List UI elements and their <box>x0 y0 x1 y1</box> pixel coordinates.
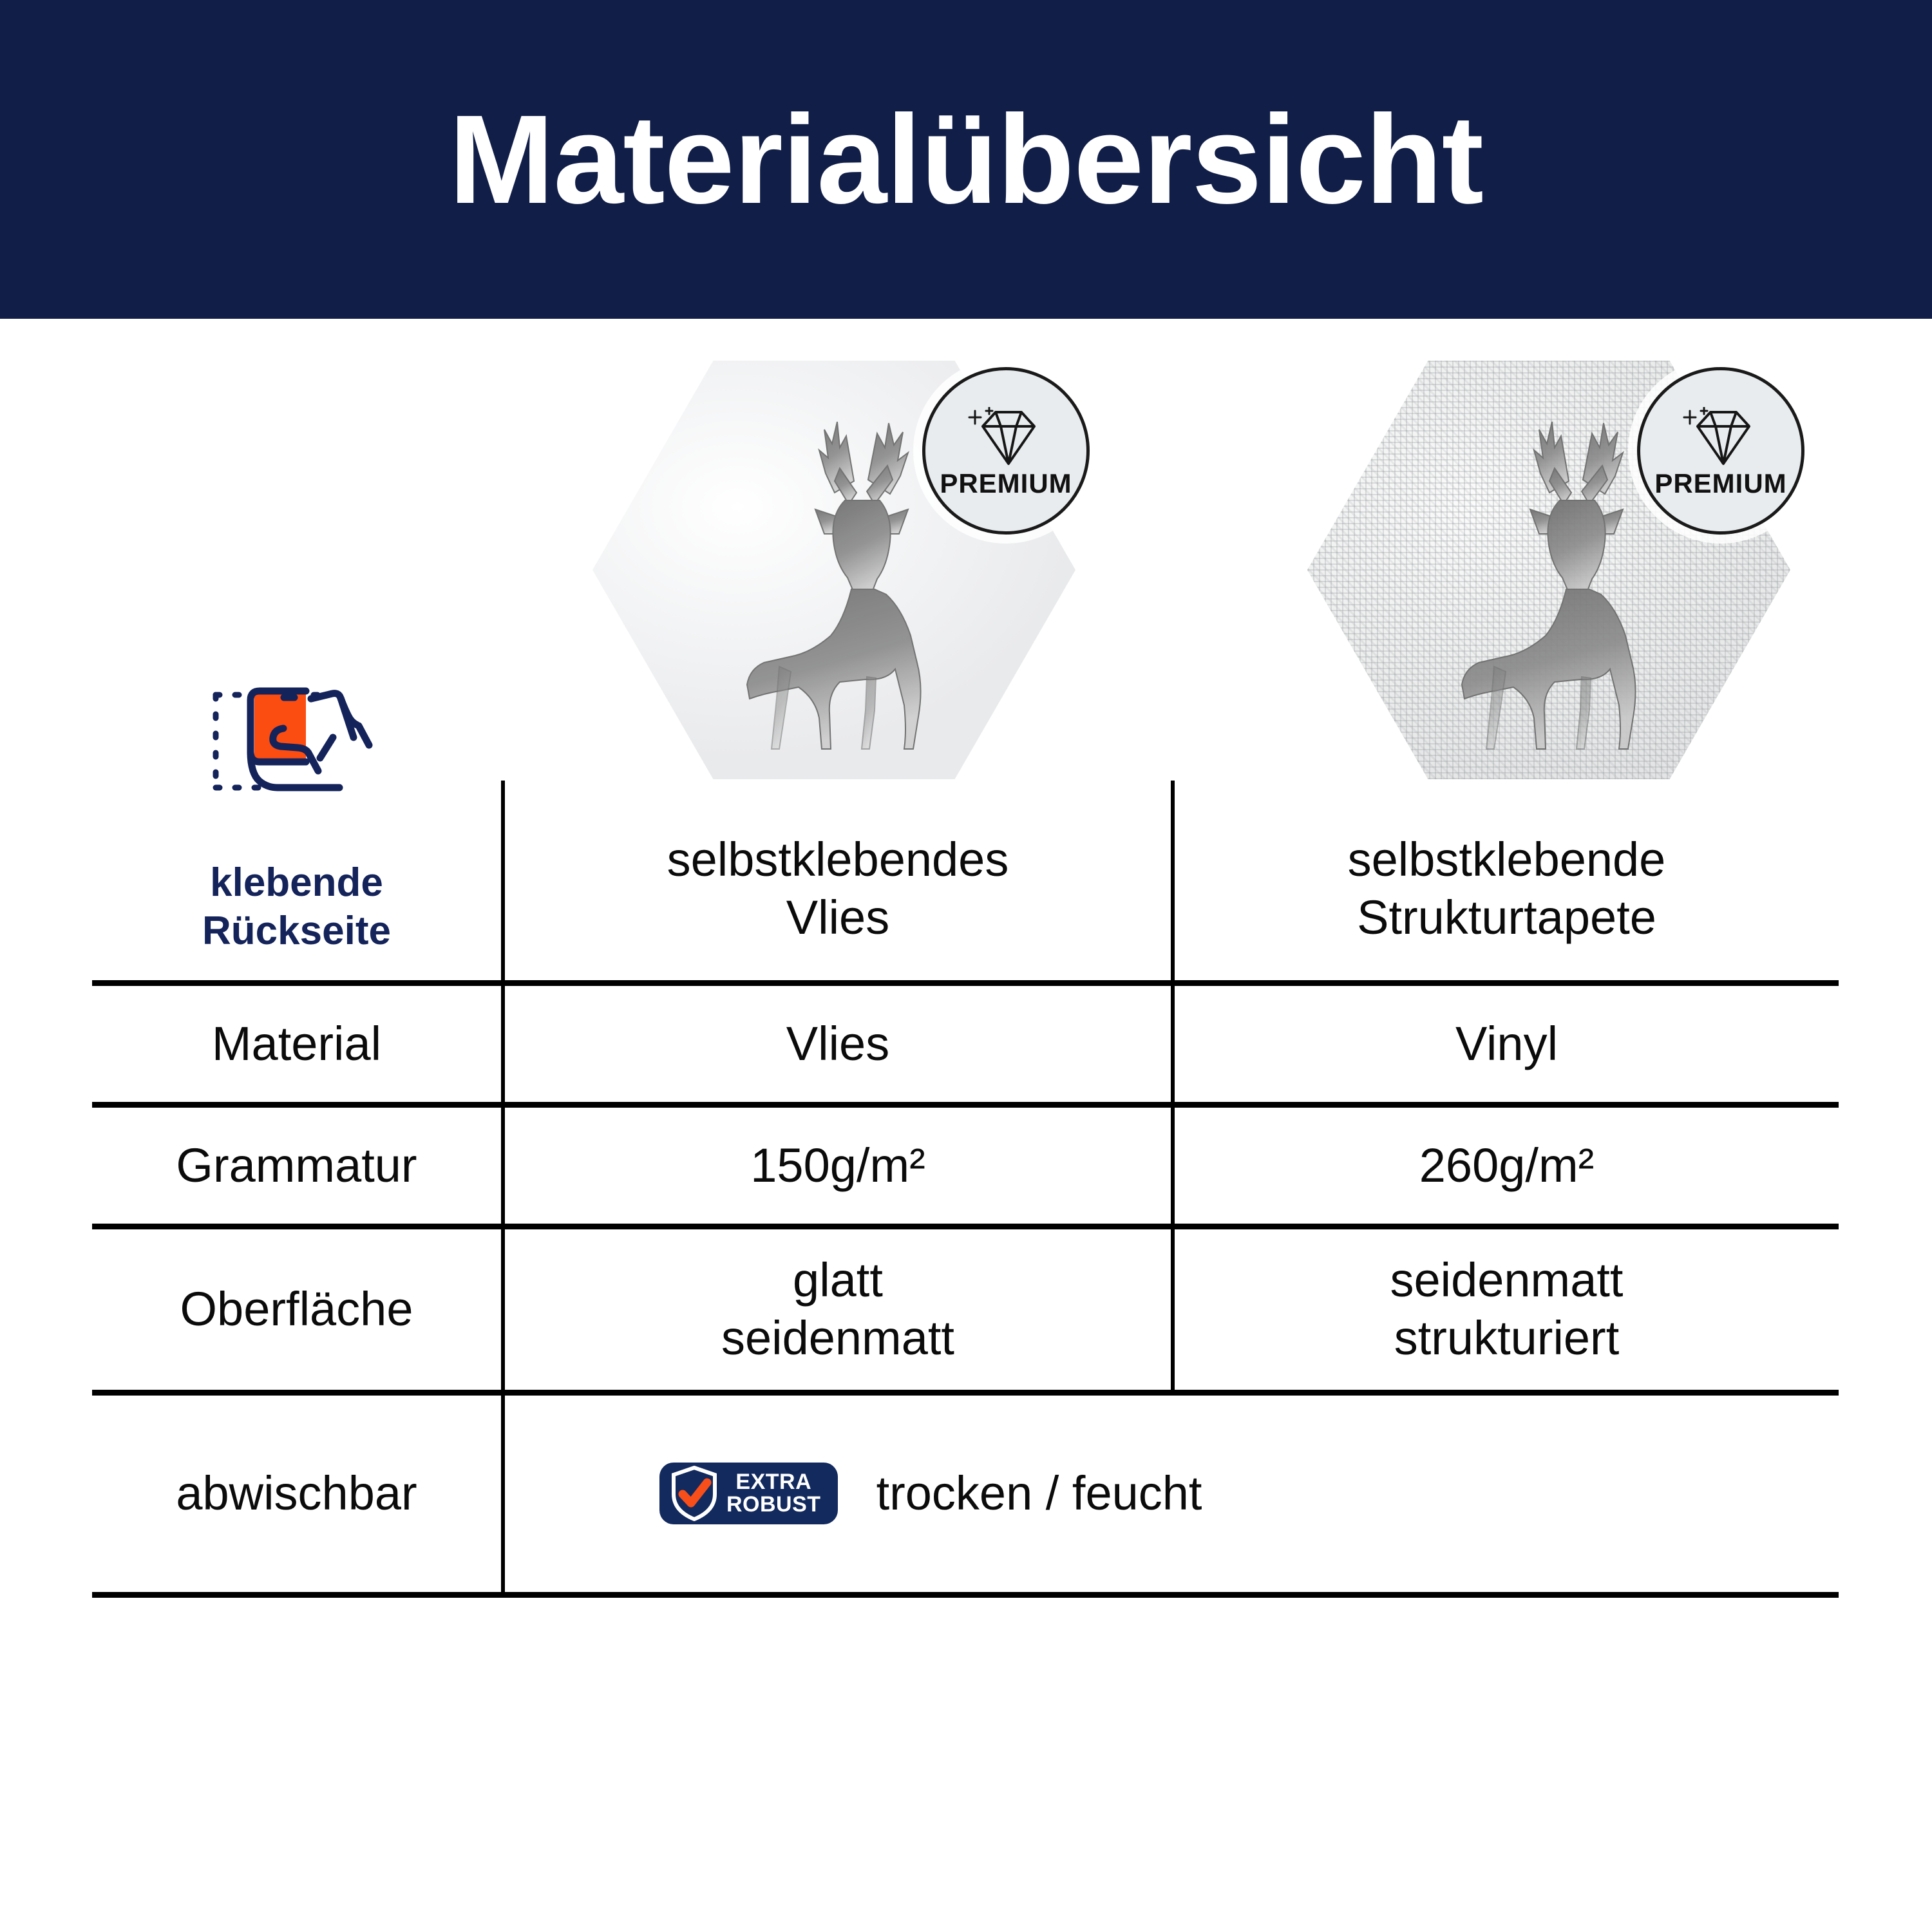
row-label-oberflaeche: Oberfläche <box>92 1229 501 1390</box>
adhesive-back-peel-icon <box>200 674 393 810</box>
table-row: Grammatur 150g/m² 260g/m² <box>92 1102 1839 1224</box>
extra-robust-line1: EXTRA <box>726 1471 821 1493</box>
adhesive-back-label-line1: klebende <box>202 858 391 907</box>
sample-strukturtapete: PREMIUM <box>1307 361 1790 779</box>
cell-oberflaeche-strukturtapete: seidenmatt strukturiert <box>1171 1229 1839 1390</box>
diamond-icon <box>967 407 1045 469</box>
sample-vlies: PREMIUM <box>592 361 1075 779</box>
table-row: Oberfläche glatt seidenmatt seidenmatt s… <box>92 1224 1839 1390</box>
column-header-strukturtapete: selbstklebende Strukturtapete <box>1171 781 1839 980</box>
abwischbar-value-text: trocken / feucht <box>876 1464 1202 1522</box>
row-label-grammatur: Grammatur <box>92 1108 501 1224</box>
cell-abwischbar-value: EXTRA ROBUST trocken / feucht <box>501 1396 1839 1592</box>
table-row: abwischbar EXTRA ROBUST trocken / feucht <box>92 1390 1839 1598</box>
column-header-strukturtapete-line1: selbstklebende <box>1348 831 1666 889</box>
column-header-vlies-line1: selbstklebendes <box>667 831 1009 889</box>
cell-oberflaeche-strukturtapete-line1: seidenmatt <box>1390 1251 1624 1309</box>
page-header: Materialübersicht <box>0 0 1932 319</box>
cell-grammatur-strukturtapete: 260g/m² <box>1171 1108 1839 1224</box>
cell-oberflaeche-strukturtapete-line2: strukturiert <box>1390 1309 1624 1367</box>
premium-badge: PREMIUM <box>922 367 1090 535</box>
material-comparison-table: klebende Rückseite selbstklebendes Vlies… <box>92 781 1839 1598</box>
cell-oberflaeche-vlies-line1: glatt <box>721 1251 954 1309</box>
adhesive-back-cell: klebende Rückseite <box>92 781 501 980</box>
table-row: Material Vlies Vinyl <box>92 980 1839 1102</box>
page-title: Materialübersicht <box>449 97 1483 223</box>
premium-badge-label: PREMIUM <box>1654 470 1786 497</box>
adhesive-back-label: klebende Rückseite <box>202 858 391 956</box>
column-header-strukturtapete-line2: Strukturtapete <box>1348 889 1666 947</box>
cell-oberflaeche-vlies: glatt seidenmatt <box>501 1229 1171 1390</box>
cell-grammatur-vlies: 150g/m² <box>501 1108 1171 1224</box>
cell-material-strukturtapete: Vinyl <box>1171 986 1839 1102</box>
extra-robust-badge: EXTRA ROBUST <box>659 1463 838 1524</box>
extra-robust-line2: ROBUST <box>726 1493 821 1516</box>
adhesive-back-label-line2: Rückseite <box>202 907 391 956</box>
cell-oberflaeche-vlies-line2: seidenmatt <box>721 1309 954 1367</box>
diamond-icon <box>1682 407 1759 469</box>
extra-robust-text: EXTRA ROBUST <box>726 1471 821 1515</box>
premium-badge-label: PREMIUM <box>940 470 1072 497</box>
shield-check-icon <box>671 1466 717 1521</box>
column-header-vlies: selbstklebendes Vlies <box>501 781 1171 980</box>
cell-material-vlies: Vlies <box>501 986 1171 1102</box>
table-row-header: klebende Rückseite selbstklebendes Vlies… <box>92 781 1839 980</box>
column-header-vlies-line2: Vlies <box>667 889 1009 947</box>
premium-badge: PREMIUM <box>1637 367 1804 535</box>
row-label-material: Material <box>92 986 501 1102</box>
row-label-abwischbar: abwischbar <box>92 1396 501 1592</box>
